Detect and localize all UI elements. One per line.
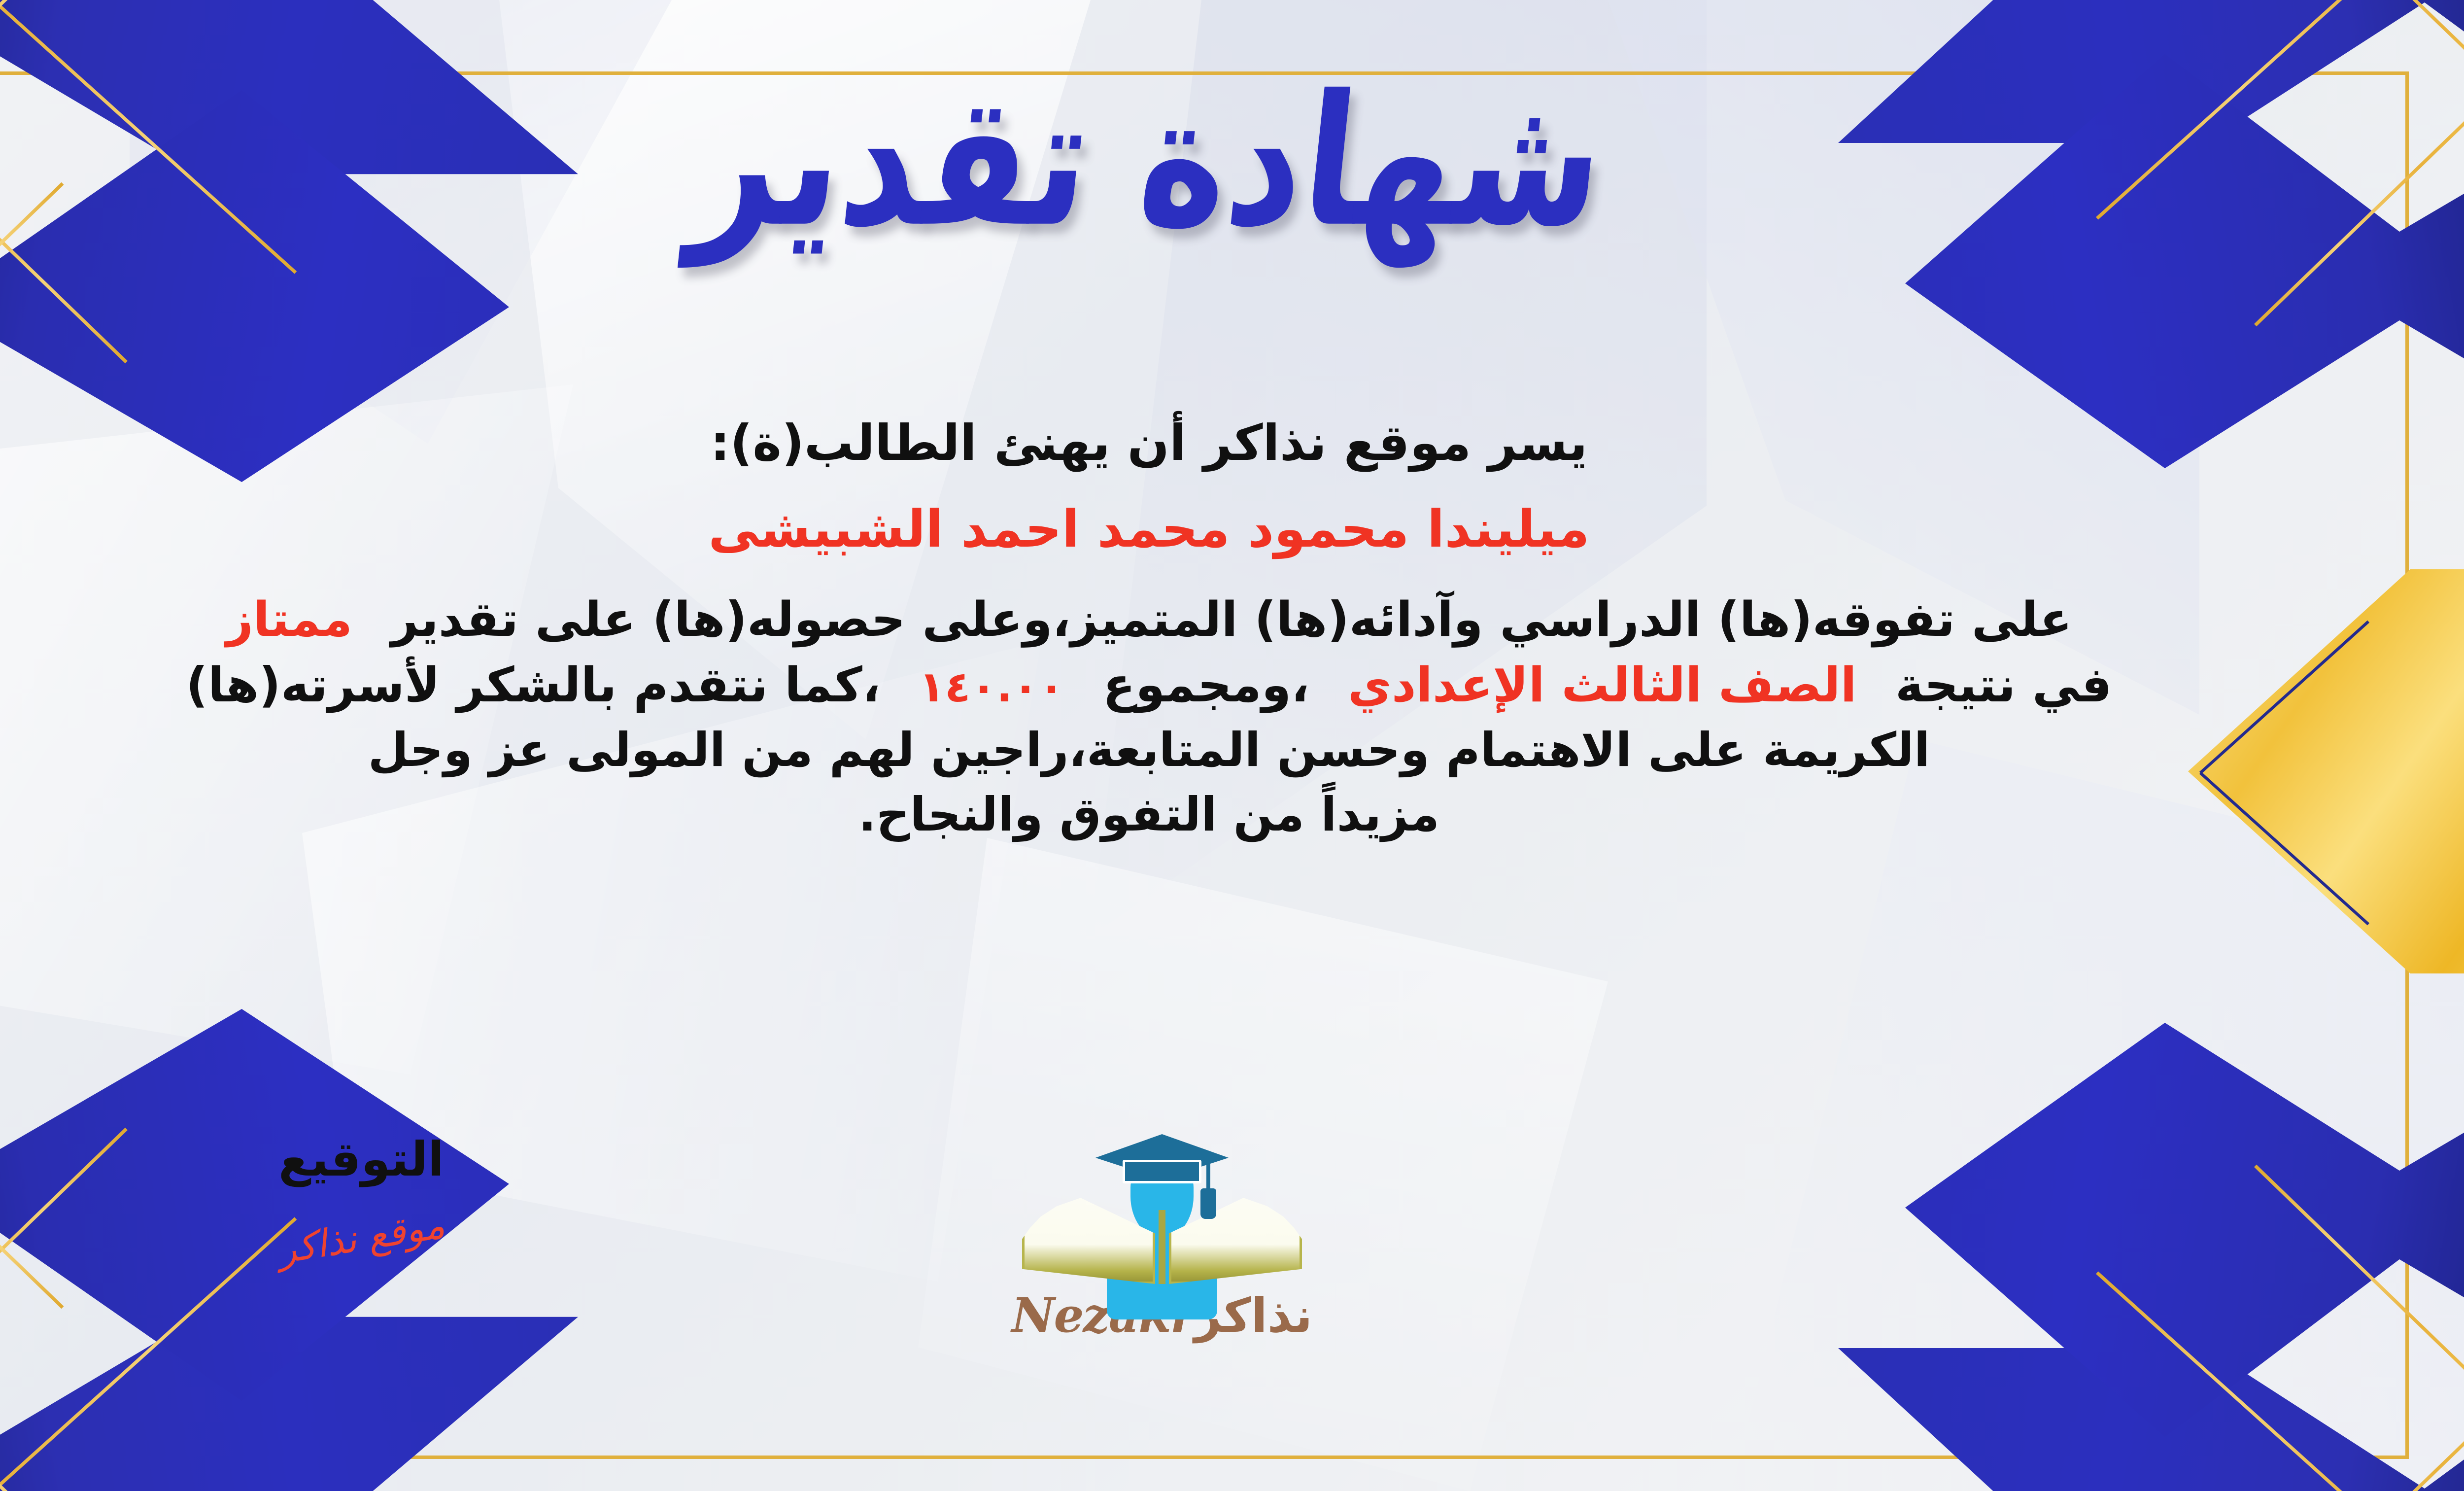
class-value: الصف الثالث الإعدادي [1348,657,1857,713]
total-prefix-text: ،ومجموع [1103,657,1309,713]
certificate-title-container: شهادة تقدير [0,76,2464,246]
intro-line: يسر موقع نذاكر أن يهنئ الطالب(ة): [0,409,2370,477]
certificate-body: يسر موقع نذاكر أن يهنئ الطالب(ة): ميليند… [0,409,2370,847]
certificate-page: شهادة تقدير يسر موقع نذاكر أن يهنئ الطال… [0,0,2464,1491]
page-title: شهادة تقدير [684,58,1614,265]
grade-value: ممتاز [226,591,352,647]
result-prefix-text: في نتيجة [1895,657,2112,713]
signature-block: التوقيع موقع نذاكر [208,1134,514,1259]
total-score-value: ١٤٠.٠٠ [919,662,1064,712]
thanks-text: ،كما نتقدم بالشكر لأسرته(ها) [186,657,880,713]
graduation-tassel-cord-icon [1206,1152,1210,1190]
logo-artwork [1024,1121,1300,1284]
achievement-line-1: على تفوقه(ها) الدراسي وآدائه(ها) المتميز… [0,587,2370,653]
graduation-tassel-icon [1200,1188,1216,1219]
achievement-line-3: الكريمة على الاهتمام وحسن المتابعة،راجين… [0,718,2370,783]
achievement-line-2: في نتيجةالصف الثالث الإعدادي،ومجموع١٤٠.٠… [0,652,2370,718]
achievement-text-part1: على تفوقه(ها) الدراسي وآدائه(ها) المتميز… [391,591,2072,647]
site-logo: نذاكرNezakr [994,1121,1330,1339]
graduation-cap-band-icon [1123,1160,1201,1183]
achievement-line-4: مزيداً من التفوق والنجاح. [0,783,2370,847]
signature-label: التوقيع [208,1134,514,1186]
student-name: ميليندا محمود محمد احمد الشبيشى [0,494,2370,565]
open-book-spine-icon [1159,1210,1165,1284]
